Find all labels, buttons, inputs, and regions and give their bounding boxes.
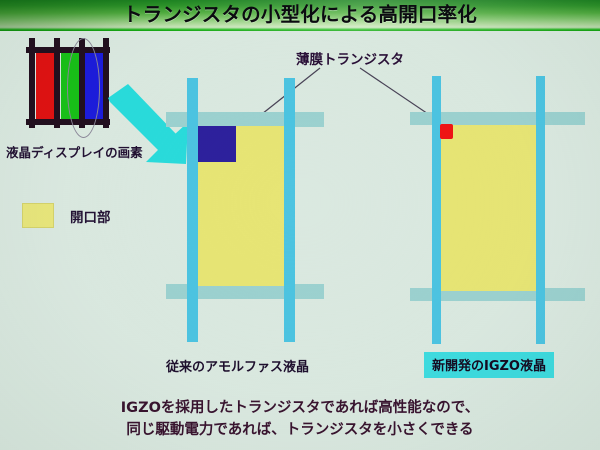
pixel-highlight-ellipse [67,38,100,138]
legend-label-aperture: 開口部 [70,206,111,226]
aperture-color-swatch [22,203,54,228]
thin-film-transistor-label: 薄膜トランジスタ [296,48,404,68]
page-title: トランジスタの小型化による高開口率化 [0,0,600,31]
gate-line-left [432,76,441,344]
summary-line-1: IGZOを採用したトランジスタであれば高性能なので、 [0,398,600,420]
red-subpixel [36,52,56,120]
pixel-grid-horizontal-top [26,47,110,53]
caption-conventional: 従来のアモルファス液晶 [166,356,309,375]
gate-line-left [187,78,198,342]
panel-igzo [418,70,578,350]
transistor-small [440,124,453,139]
pixel-grid-horizontal-bottom [26,119,110,125]
legend: 開口部 [22,203,111,228]
aperture-area [440,125,538,291]
pixel-grid-vertical-2 [54,38,60,128]
pixel-grid-vertical-1 [29,38,35,128]
summary-text: IGZOを採用したトランジスタであれば高性能なので、 同じ駆動電力であれば、トラ… [0,398,600,442]
panel-conventional-amorphous [170,70,320,350]
caption-igzo: 新開発のIGZO液晶 [424,352,554,378]
gate-line-right [284,78,295,342]
gate-line-right [536,76,545,344]
summary-line-2: 同じ駆動電力であれば、トランジスタを小さくできる [0,420,600,442]
transistor-large [198,126,236,162]
slide-canvas: トランジスタの小型化による高開口率化 液晶ディスプレイの画素 開口部 薄膜トラン… [0,0,600,450]
